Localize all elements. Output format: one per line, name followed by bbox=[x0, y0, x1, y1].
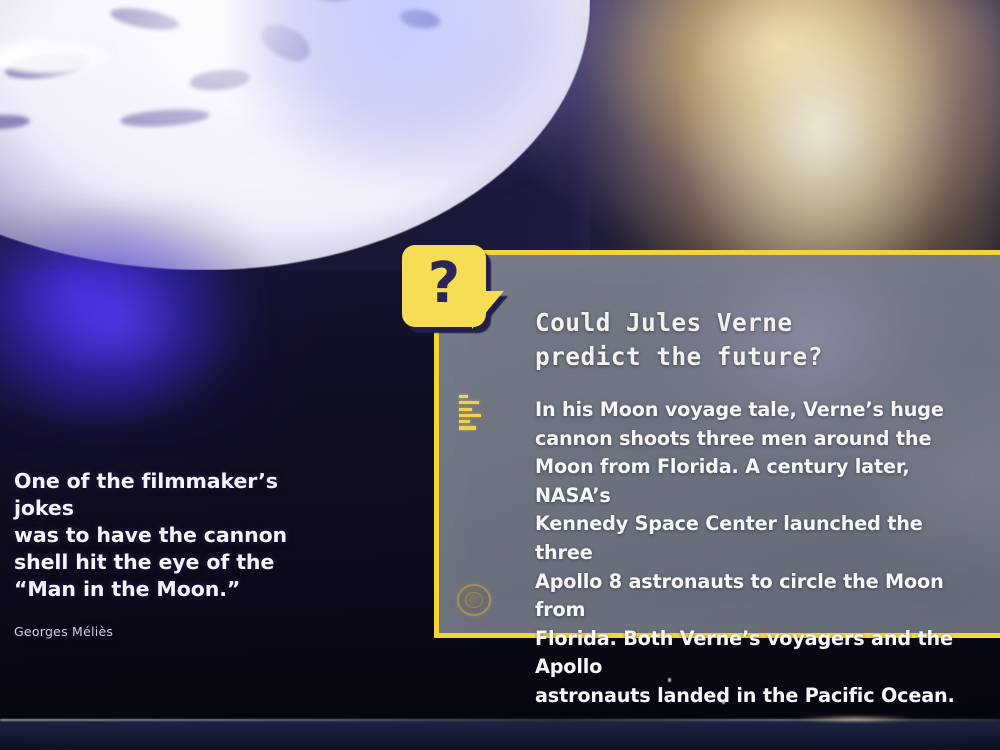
body-line-5: Apollo 8 astronauts to circle the Moon f… bbox=[535, 568, 984, 625]
cool-glare bbox=[230, 0, 590, 180]
body-line-7: astronauts landed in the Pacific Ocean. bbox=[535, 682, 984, 711]
text-lines-icon bbox=[459, 395, 483, 423]
body-line-1: In his Moon voyage tale, Verne’s huge bbox=[535, 396, 984, 425]
body-line-4: Kennedy Space Center launched the three bbox=[535, 510, 984, 567]
circular-seal-icon bbox=[457, 584, 491, 616]
blue-glow bbox=[0, 205, 260, 435]
caption-credit: Georges Méliès bbox=[14, 624, 344, 639]
panel-body-text: In his Moon voyage tale, Verne’s huge ca… bbox=[535, 396, 984, 711]
info-panel: Could Jules Verne predict the future? In… bbox=[434, 250, 1000, 638]
exhibit-caption: One of the filmmaker’s jokes was to have… bbox=[14, 468, 344, 639]
caption-line-2: was to have the cannon bbox=[14, 522, 344, 549]
caption-line-4: “Man in the Moon.” bbox=[14, 576, 344, 603]
question-bubble: ? bbox=[402, 245, 486, 327]
dust-speck bbox=[668, 678, 671, 682]
exhibit-photo: One of the filmmaker’s jokes was to have… bbox=[0, 0, 1000, 750]
bezel-glint bbox=[800, 716, 910, 722]
caption-line-1: One of the filmmaker’s jokes bbox=[14, 468, 344, 522]
body-line-3: Moon from Florida. A century later, NASA… bbox=[535, 453, 984, 510]
panel-heading-line-2: predict the future? bbox=[535, 340, 984, 374]
dust-speck bbox=[722, 700, 725, 704]
display-bezel bbox=[0, 721, 1000, 750]
panel-text-block: Could Jules Verne predict the future? In… bbox=[535, 306, 984, 711]
body-line-6: Florida. Both Verne’s voyagers and the A… bbox=[535, 625, 984, 682]
panel-heading-line-1: Could Jules Verne bbox=[535, 306, 984, 340]
question-mark-icon: ? bbox=[402, 245, 486, 327]
caption-line-3: shell hit the eye of the bbox=[14, 549, 344, 576]
body-line-2: cannon shoots three men around the bbox=[535, 425, 984, 454]
